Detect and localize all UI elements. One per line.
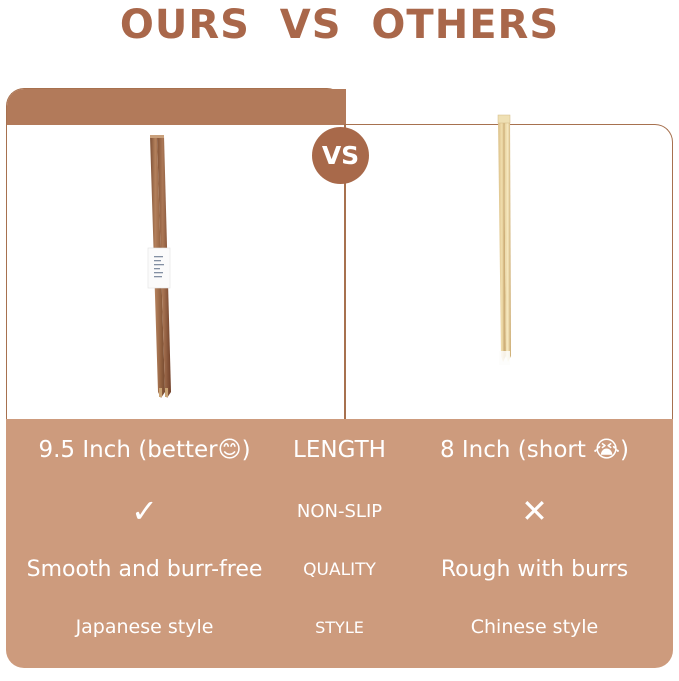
cell-others-length: 8 Inch (short 😭) <box>396 437 673 463</box>
vs-badge: VS <box>312 127 369 184</box>
cell-ours-quality: Smooth and burr-free <box>6 557 283 582</box>
product-image-ours <box>124 130 204 410</box>
table-row: ✓ NON-SLIP ✕ <box>6 481 673 541</box>
cell-feature-style: STYLE <box>283 618 396 637</box>
cell-others-nonslip-cross: ✕ <box>396 495 673 527</box>
comparison-card: VS <box>6 88 673 668</box>
product-image-others <box>466 108 546 378</box>
table-row: 9.5 Inch (better😊) LENGTH 8 Inch (short … <box>6 419 673 481</box>
cell-others-style: Chinese style <box>396 616 673 638</box>
cell-feature-quality: QUALITY <box>283 560 396 580</box>
cell-others-quality: Rough with burrs <box>396 557 673 582</box>
table-row: Smooth and burr-free QUALITY Rough with … <box>6 541 673 598</box>
cell-ours-length: 9.5 Inch (better😊) <box>6 437 283 463</box>
cell-ours-nonslip-check: ✓ <box>6 495 283 527</box>
cell-ours-style: Japanese style <box>6 616 283 638</box>
page-title: OURS VS OTHERS <box>0 2 679 48</box>
table-row: Japanese style STYLE Chinese style <box>6 598 673 656</box>
cell-feature-length: LENGTH <box>283 437 396 463</box>
vs-badge-label: VS <box>322 141 359 170</box>
comparison-table: 9.5 Inch (better😊) LENGTH 8 Inch (short … <box>6 419 673 668</box>
panel-ours-header-bar <box>7 89 346 125</box>
cell-feature-nonslip: NON-SLIP <box>283 501 396 522</box>
